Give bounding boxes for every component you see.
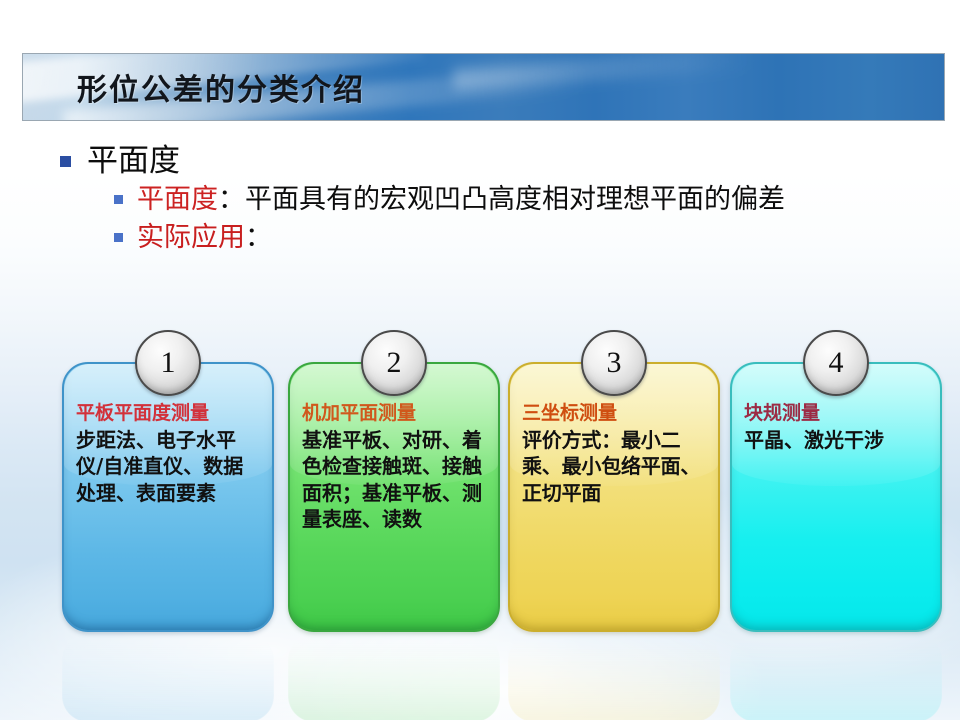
card-reflection — [508, 634, 720, 720]
square-sub-bullet-icon — [114, 195, 123, 204]
card-number-label: 4 — [829, 348, 844, 378]
page-title: 形位公差的分类介绍 — [77, 65, 365, 109]
card-number-badge: 2 — [361, 330, 427, 396]
banner-streak-icon — [453, 53, 754, 90]
card-text: 平晶、激光干涉 — [744, 427, 930, 453]
bullet-level2-application: 实际应用： — [114, 221, 920, 256]
card-text: 基准平板、对研、着色检查接触斑、接触面积；基准平板、测量表座、读数 — [302, 427, 488, 533]
card-body[interactable]: 三坐标测量 评价方式：最小二乘、最小包络平面、正切平面 — [508, 362, 720, 632]
card-number-label: 1 — [161, 348, 176, 378]
card-reflection — [288, 634, 500, 720]
definition-term: 平面度 — [137, 184, 218, 215]
bullet-level2-definition: 平面度：平面具有的宏观凹凸高度相对理想平面的偏差 — [114, 183, 920, 218]
card-reflection — [730, 634, 942, 720]
slide-canvas: 形位公差的分类介绍 平面度 平面度：平面具有的宏观凹凸高度相对理想平面的偏差 实… — [0, 0, 960, 720]
application-term: 实际应用 — [137, 222, 245, 253]
card-number-badge: 4 — [803, 330, 869, 396]
square-bullet-icon — [60, 156, 71, 167]
card-2[interactable]: 机加平面测量 基准平板、对研、着色检查接触斑、接触面积；基准平板、测量表座、读数… — [288, 330, 500, 650]
card-body[interactable]: 平板平面度测量 步距法、电子水平仪/自准直仪、数据处理、表面要素 — [62, 362, 274, 632]
card-reflection — [62, 634, 274, 720]
square-sub-bullet-icon — [114, 233, 123, 242]
bullet-level2-content: 平面度：平面具有的宏观凹凸高度相对理想平面的偏差 — [137, 183, 785, 218]
definition-text: 平面具有的宏观凹凸高度相对理想平面的偏差 — [245, 184, 785, 215]
title-banner: 形位公差的分类介绍 — [22, 53, 945, 121]
bullet-level2-content: 实际应用： — [137, 221, 272, 256]
card-heading: 块规测量 — [744, 402, 930, 426]
card-row: 平板平面度测量 步距法、电子水平仪/自准直仪、数据处理、表面要素 1 机加平面测… — [0, 330, 960, 650]
card-heading: 机加平面测量 — [302, 402, 488, 426]
bullet-level1-label: 平面度 — [87, 142, 180, 181]
bullet-level1: 平面度 — [60, 142, 920, 181]
card-4[interactable]: 块规测量 平晶、激光干涉 4 — [730, 330, 942, 650]
card-3[interactable]: 三坐标测量 评价方式：最小二乘、最小包络平面、正切平面 3 — [508, 330, 720, 650]
card-heading: 三坐标测量 — [522, 402, 708, 426]
card-number-label: 3 — [607, 348, 622, 378]
card-body[interactable]: 机加平面测量 基准平板、对研、着色检查接触斑、接触面积；基准平板、测量表座、读数 — [288, 362, 500, 632]
bullet-list: 平面度 平面度：平面具有的宏观凹凸高度相对理想平面的偏差 实际应用： — [60, 142, 920, 260]
card-number-badge: 1 — [135, 330, 201, 396]
card-heading: 平板平面度测量 — [76, 402, 262, 426]
card-text: 评价方式：最小二乘、最小包络平面、正切平面 — [522, 427, 708, 506]
card-1[interactable]: 平板平面度测量 步距法、电子水平仪/自准直仪、数据处理、表面要素 1 — [62, 330, 274, 650]
card-body[interactable]: 块规测量 平晶、激光干涉 — [730, 362, 942, 632]
definition-separator: ： — [218, 184, 245, 215]
card-text: 步距法、电子水平仪/自准直仪、数据处理、表面要素 — [76, 427, 262, 506]
card-number-label: 2 — [387, 348, 402, 378]
card-number-badge: 3 — [581, 330, 647, 396]
application-separator: ： — [245, 222, 272, 253]
